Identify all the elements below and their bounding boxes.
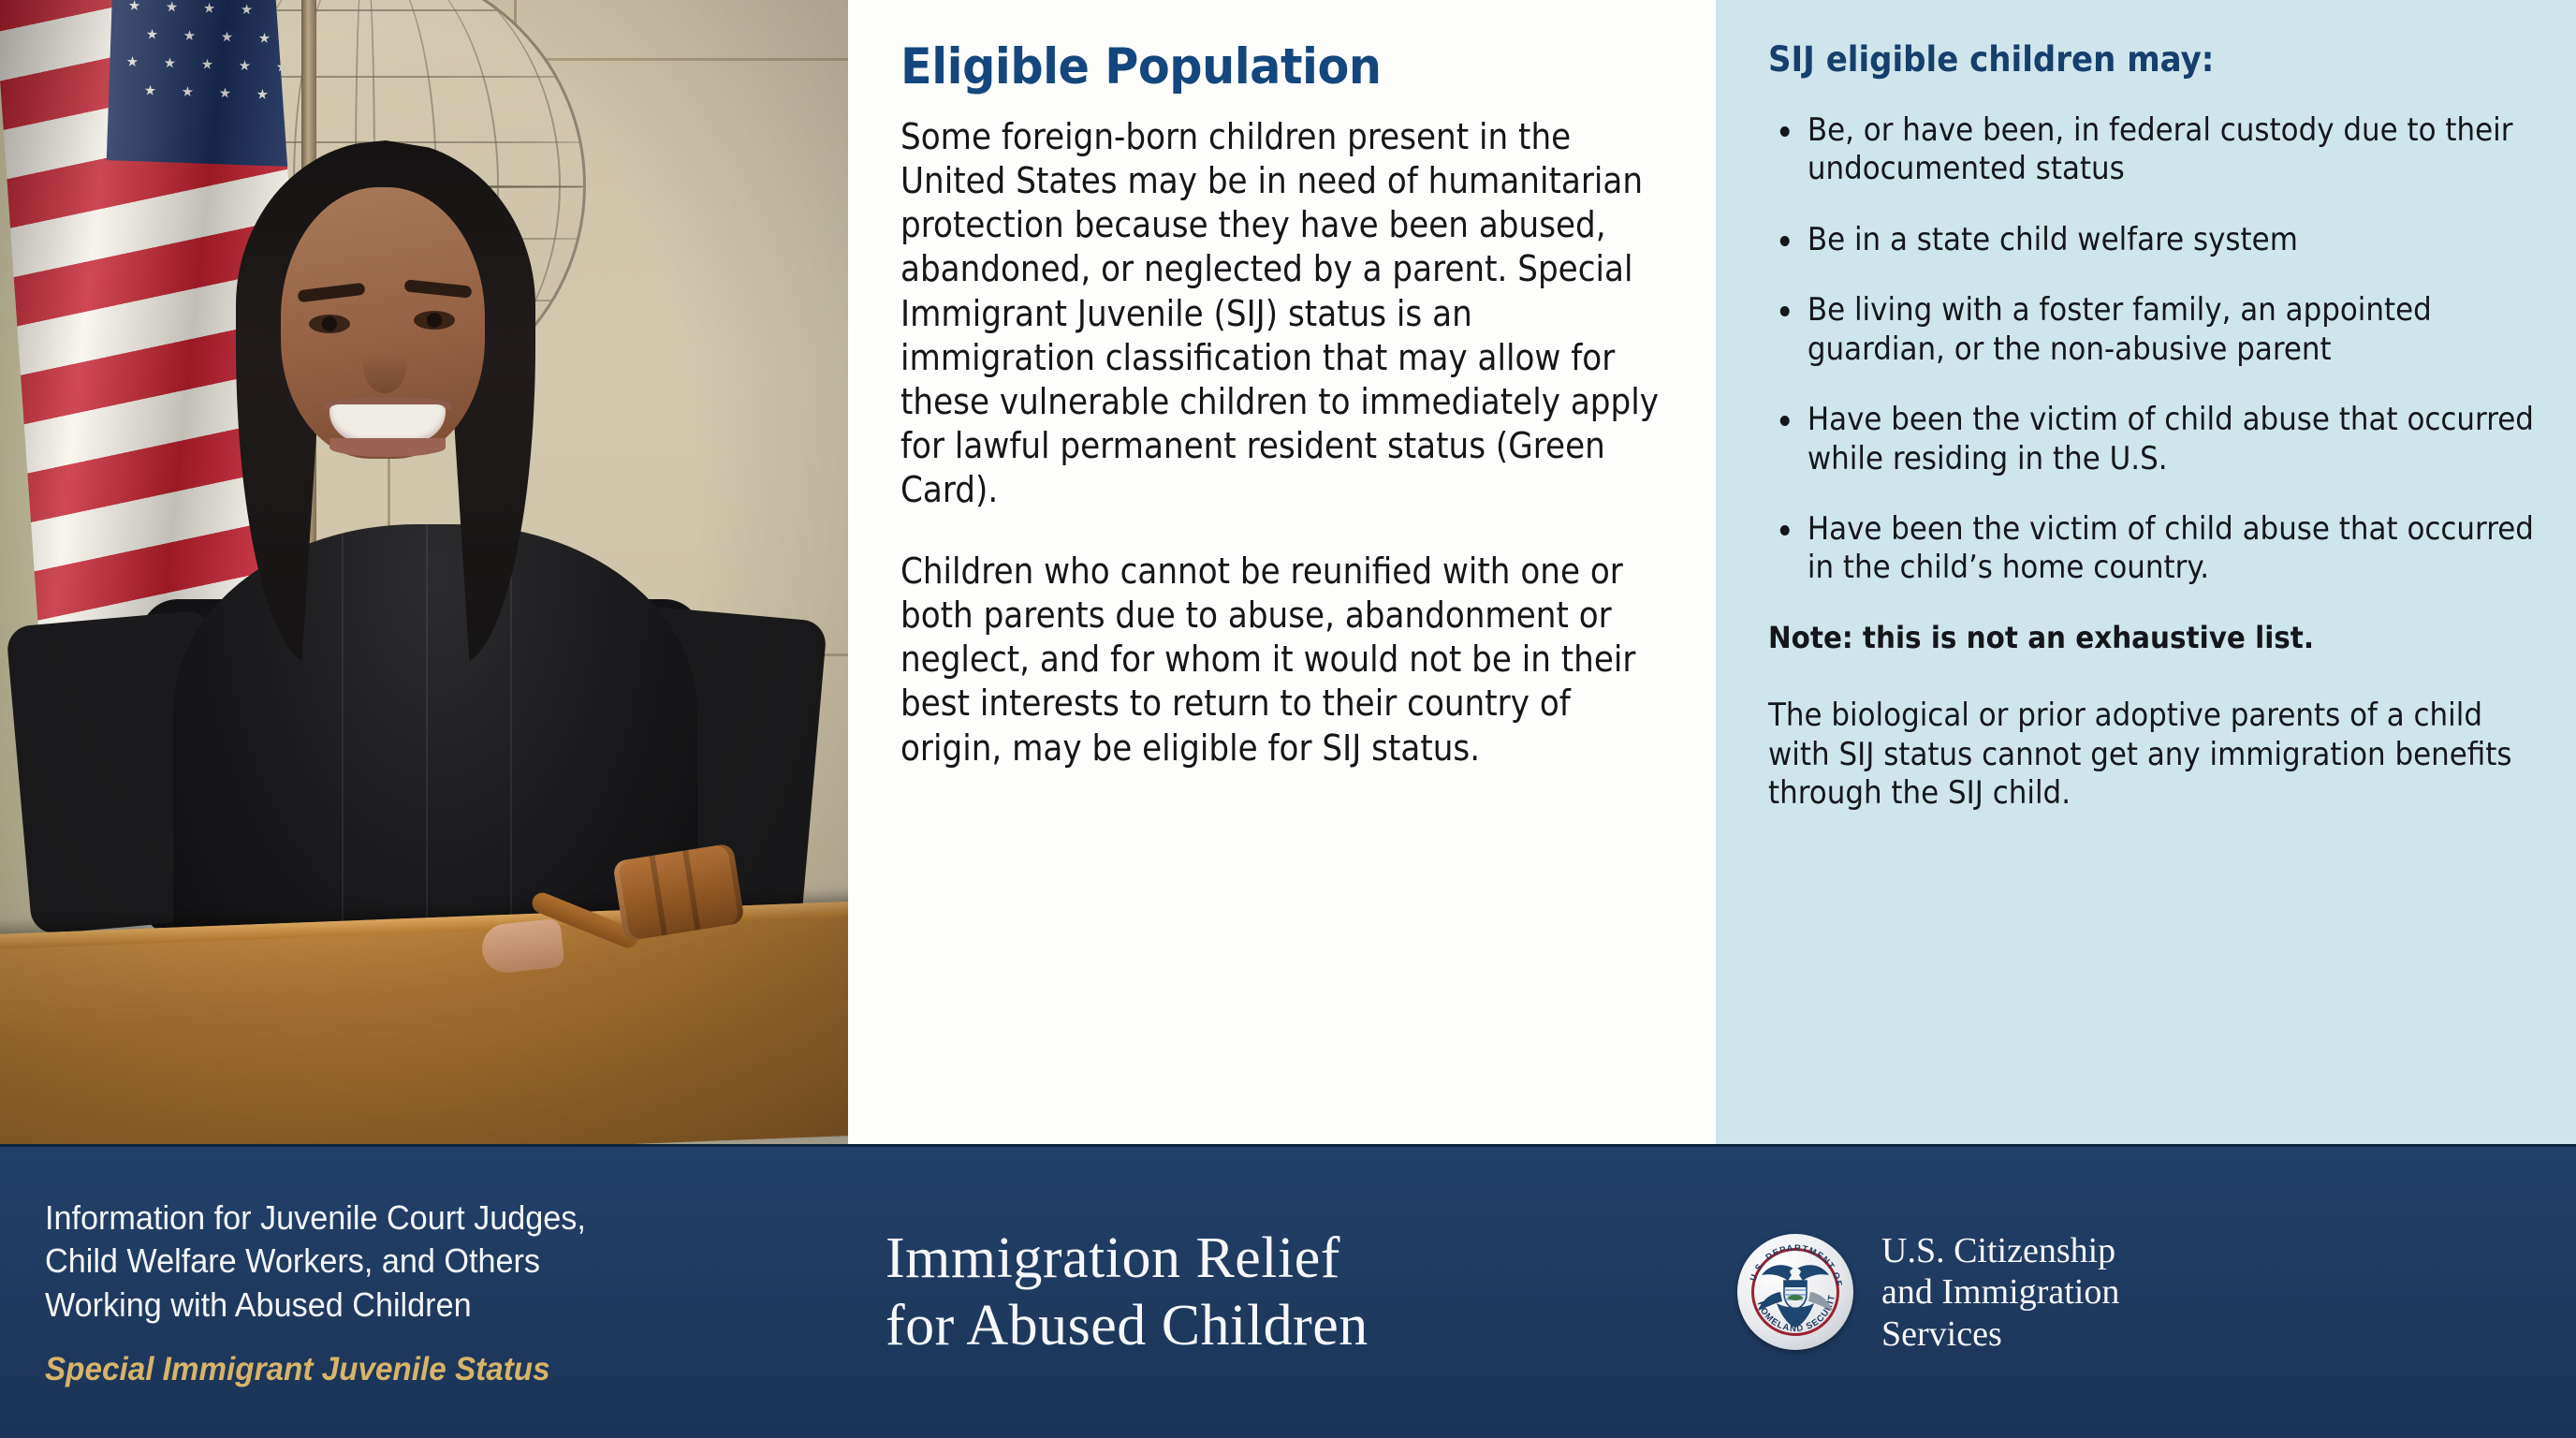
footer-title-line: for Abused Children bbox=[885, 1293, 1719, 1360]
panel-title: Eligible Population bbox=[900, 41, 1610, 93]
sij-eligible-children-panel: SIJ eligible children may: Be, or have b… bbox=[1716, 0, 2576, 1144]
content-columns: Eligible Population Some foreign-born ch… bbox=[0, 0, 2576, 1144]
agency-line: U.S. Citizenship bbox=[1881, 1230, 2119, 1271]
audience-line: Child Welfare Workers, and Others bbox=[45, 1240, 808, 1283]
footer-subtitle: Special Immigrant Juvenile Status bbox=[45, 1351, 808, 1388]
panel-title: SIJ eligible children may: bbox=[1768, 41, 2473, 80]
footer-title-line: Immigration Relief bbox=[885, 1225, 1719, 1293]
eligibility-bullet-list: Be, or have been, in federal custody due… bbox=[1768, 111, 2535, 588]
list-item: Be, or have been, in federal custody due… bbox=[1768, 111, 2561, 189]
footer-agency-block: U.S. DEPARTMENT OF HOMELAND SECURITY bbox=[1719, 1230, 2576, 1354]
footer-audience-block: Information for Juvenile Court Judges, C… bbox=[0, 1196, 848, 1387]
audience-line: Working with Abused Children bbox=[45, 1284, 808, 1327]
agency-line: and Immigration bbox=[1881, 1271, 2119, 1313]
list-item: Be living with a foster family, an appoi… bbox=[1768, 291, 2561, 369]
eligible-population-panel: Eligible Population Some foreign-born ch… bbox=[848, 0, 1716, 1144]
audience-line: Information for Juvenile Court Judges, bbox=[45, 1196, 808, 1240]
agency-line: Services bbox=[1881, 1313, 2119, 1355]
closing-paragraph: The biological or prior adoptive parents… bbox=[1768, 697, 2522, 813]
list-item: Have been the victim of child abuse that… bbox=[1768, 401, 2561, 478]
judge-portrait-photo bbox=[0, 0, 848, 1144]
list-item: Be in a state child welfare system bbox=[1768, 221, 2561, 259]
paragraph: Children who cannot be reunified with on… bbox=[900, 550, 1662, 770]
note-text: Note: this is not an exhaustive list. bbox=[1768, 620, 2473, 655]
list-item: Have been the victim of child abuse that… bbox=[1768, 510, 2561, 588]
agency-name: U.S. Citizenship and Immigration Service… bbox=[1881, 1230, 2119, 1354]
paragraph: Some foreign-born children present in th… bbox=[900, 115, 1662, 512]
footer-bar: Information for Juvenile Court Judges, C… bbox=[0, 1144, 2576, 1438]
footer-title-block: Immigration Relief for Abused Children bbox=[848, 1225, 1719, 1360]
photo-vignette bbox=[0, 0, 848, 1144]
infographic-poster: Eligible Population Some foreign-born ch… bbox=[0, 0, 2576, 1438]
dhs-seal-icon: U.S. DEPARTMENT OF HOMELAND SECURITY bbox=[1737, 1234, 1853, 1350]
